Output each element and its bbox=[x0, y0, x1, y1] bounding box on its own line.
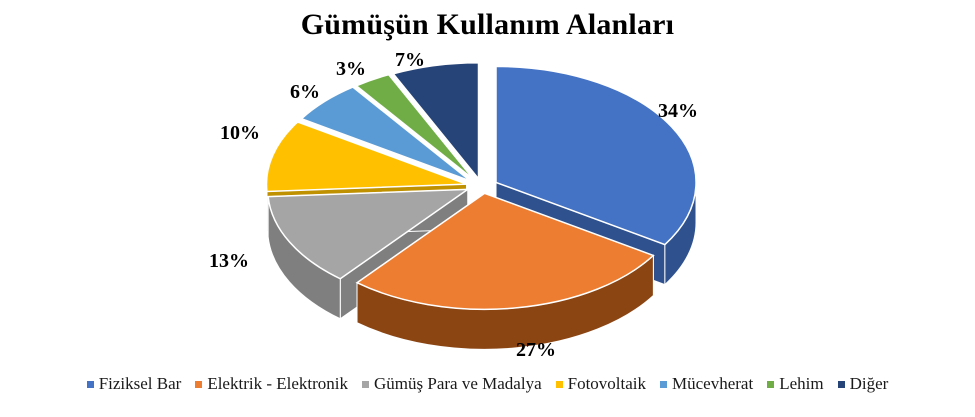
slice-percent-label-6: 3% bbox=[336, 58, 366, 81]
legend-item-label: Gümüş Para ve Madalya bbox=[374, 374, 542, 394]
legend-item-label: Fotovoltaik bbox=[568, 374, 646, 394]
pie-chart-svg bbox=[0, 38, 975, 368]
slice-percent-label-1: 34% bbox=[658, 100, 698, 123]
slice-percent-label-2: 27% bbox=[516, 339, 556, 362]
chart-legend: Fiziksel BarElektrik - ElektronikGümüş P… bbox=[0, 374, 975, 394]
chart-title: Gümüşün Kullanım Alanları bbox=[0, 8, 975, 42]
slice-percent-label-4: 10% bbox=[220, 122, 260, 145]
legend-item-3[interactable]: Gümüş Para ve Madalya bbox=[362, 374, 542, 394]
legend-item-label: Mücevherat bbox=[672, 374, 753, 394]
legend-item-4[interactable]: Fotovoltaik bbox=[556, 374, 646, 394]
pie-chart-plot-area bbox=[0, 38, 975, 368]
legend-item-label: Diğer bbox=[850, 374, 889, 394]
legend-item-1[interactable]: Fiziksel Bar bbox=[87, 374, 182, 394]
slice-percent-label-7: 7% bbox=[395, 49, 425, 72]
legend-item-6[interactable]: Lehim bbox=[767, 374, 823, 394]
legend-swatch-icon bbox=[660, 381, 667, 388]
legend-item-5[interactable]: Mücevherat bbox=[660, 374, 753, 394]
pie-chart-figure: Gümüşün Kullanım Alanları 34%27%13%10%6%… bbox=[0, 0, 975, 417]
legend-swatch-icon bbox=[767, 381, 774, 388]
legend-swatch-icon bbox=[87, 381, 94, 388]
legend-swatch-icon bbox=[838, 381, 845, 388]
slice-percent-label-5: 6% bbox=[290, 81, 320, 104]
legend-item-label: Fiziksel Bar bbox=[99, 374, 182, 394]
legend-swatch-icon bbox=[556, 381, 563, 388]
legend-item-7[interactable]: Diğer bbox=[838, 374, 889, 394]
legend-item-2[interactable]: Elektrik - Elektronik bbox=[195, 374, 348, 394]
legend-swatch-icon bbox=[362, 381, 369, 388]
legend-item-label: Lehim bbox=[779, 374, 823, 394]
slice-percent-label-3: 13% bbox=[209, 250, 249, 273]
legend-swatch-icon bbox=[195, 381, 202, 388]
legend-item-label: Elektrik - Elektronik bbox=[207, 374, 348, 394]
